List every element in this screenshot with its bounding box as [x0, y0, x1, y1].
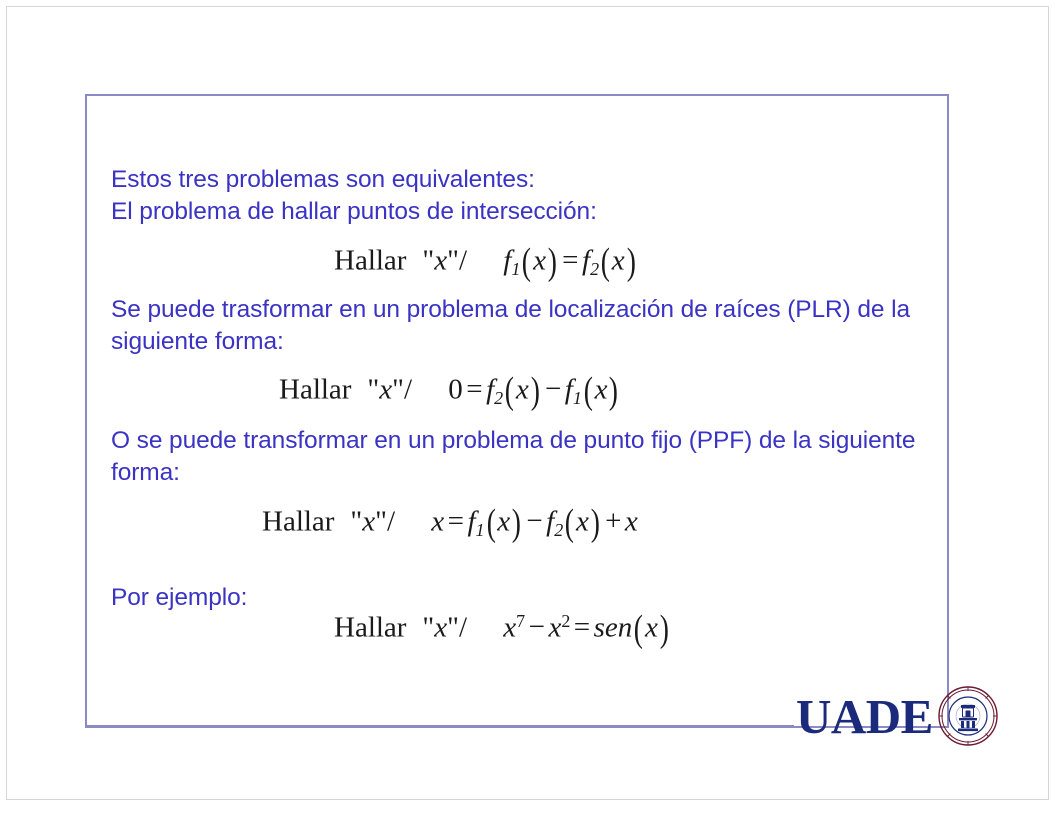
term1-function: f	[486, 373, 494, 405]
rhs-function: f	[582, 244, 590, 276]
rhs-argument: x	[612, 244, 625, 276]
paren-close-term1: )	[512, 501, 521, 545]
uade-wordmark: UADE	[796, 692, 933, 741]
paren-close-rhs: )	[626, 240, 635, 284]
rhs-subscript: 2	[590, 259, 599, 279]
base1: x	[503, 611, 516, 643]
relation-operator: =	[463, 373, 486, 405]
equation-prefix: Hallar	[279, 373, 351, 405]
term2-subscript: 2	[554, 520, 563, 540]
paren-open-term1: (	[505, 369, 514, 413]
paren-close-term2: )	[591, 501, 600, 545]
term1-subscript: 2	[494, 388, 503, 408]
term2-subscript: 1	[573, 388, 582, 408]
exponent1: 7	[516, 611, 525, 631]
paren-open-sen: (	[634, 607, 643, 651]
zero-term: 0	[448, 373, 463, 405]
paren-close-term1: )	[531, 369, 540, 413]
minus-operator: −	[542, 373, 565, 405]
quote-open: "	[422, 244, 434, 276]
paren-open-term2: (	[565, 501, 574, 545]
equation-prefix: Hallar	[334, 611, 406, 643]
intro-paragraph: Estos tres problemas son equivalentes: E…	[111, 164, 597, 228]
quote-open: "	[350, 505, 362, 537]
lhs-argument: x	[533, 244, 546, 276]
equation-variable: x	[434, 611, 447, 643]
uade-seal-icon	[937, 685, 999, 747]
equation-variable: x	[379, 373, 392, 405]
relation-operator: =	[559, 244, 582, 276]
quote-open: "	[367, 373, 379, 405]
term1-function: f	[467, 505, 475, 537]
example-label: Por ejemplo:	[111, 582, 247, 614]
equation-plr: Hallar"x"/0=f2(x)−f1(x)	[279, 369, 620, 413]
footer-rule	[87, 725, 794, 727]
plr-paragraph: Se puede trasformar en un problema de lo…	[111, 294, 911, 358]
sen-function: sen	[594, 611, 633, 643]
trailing-variable: x	[625, 505, 638, 537]
paren-close-term2: )	[609, 369, 618, 413]
term1-argument: x	[497, 505, 510, 537]
paren-open-lhs: (	[522, 240, 531, 284]
lhs-variable: x	[431, 505, 444, 537]
relation-operator: =	[444, 505, 467, 537]
equation-ppf: Hallar"x"/x=f1(x)−f2(x)+x	[262, 501, 638, 545]
quote-close-slash: "/	[392, 373, 412, 405]
equation-variable: x	[362, 505, 375, 537]
term2-argument: x	[576, 505, 589, 537]
ppf-paragraph: O se puede transformar en un problema de…	[111, 425, 921, 489]
lhs-subscript: 1	[511, 259, 520, 279]
sen-argument: x	[645, 611, 658, 643]
plus-operator: +	[602, 505, 625, 537]
paren-open-term1: (	[486, 501, 495, 545]
uade-logo: UADE	[796, 685, 999, 747]
quote-close-slash: "/	[447, 611, 467, 643]
term2-argument: x	[595, 373, 608, 405]
relation-operator: =	[570, 611, 593, 643]
slide-page: Estos tres problemas son equivalentes: E…	[6, 6, 1049, 800]
paren-close-sen: )	[660, 607, 669, 651]
equation-prefix: Hallar	[262, 505, 334, 537]
exponent2: 2	[561, 611, 570, 631]
equation-example: Hallar"x"/x7−x2=sen(x)	[334, 607, 671, 651]
base2: x	[548, 611, 561, 643]
equation-prefix: Hallar	[334, 244, 406, 276]
term2-function: f	[565, 373, 573, 405]
paren-open-term2: (	[584, 369, 593, 413]
equation-intersection: Hallar"x"/f1(x)=f2(x)	[334, 240, 637, 284]
paren-open-rhs: (	[601, 240, 610, 284]
minus-operator: −	[523, 505, 546, 537]
term1-argument: x	[516, 373, 529, 405]
equation-variable: x	[434, 244, 447, 276]
term1-subscript: 1	[476, 520, 485, 540]
quote-close-slash: "/	[375, 505, 395, 537]
quote-open: "	[422, 611, 434, 643]
minus-operator: −	[525, 611, 548, 643]
paren-close-lhs: )	[548, 240, 557, 284]
quote-close-slash: "/	[447, 244, 467, 276]
